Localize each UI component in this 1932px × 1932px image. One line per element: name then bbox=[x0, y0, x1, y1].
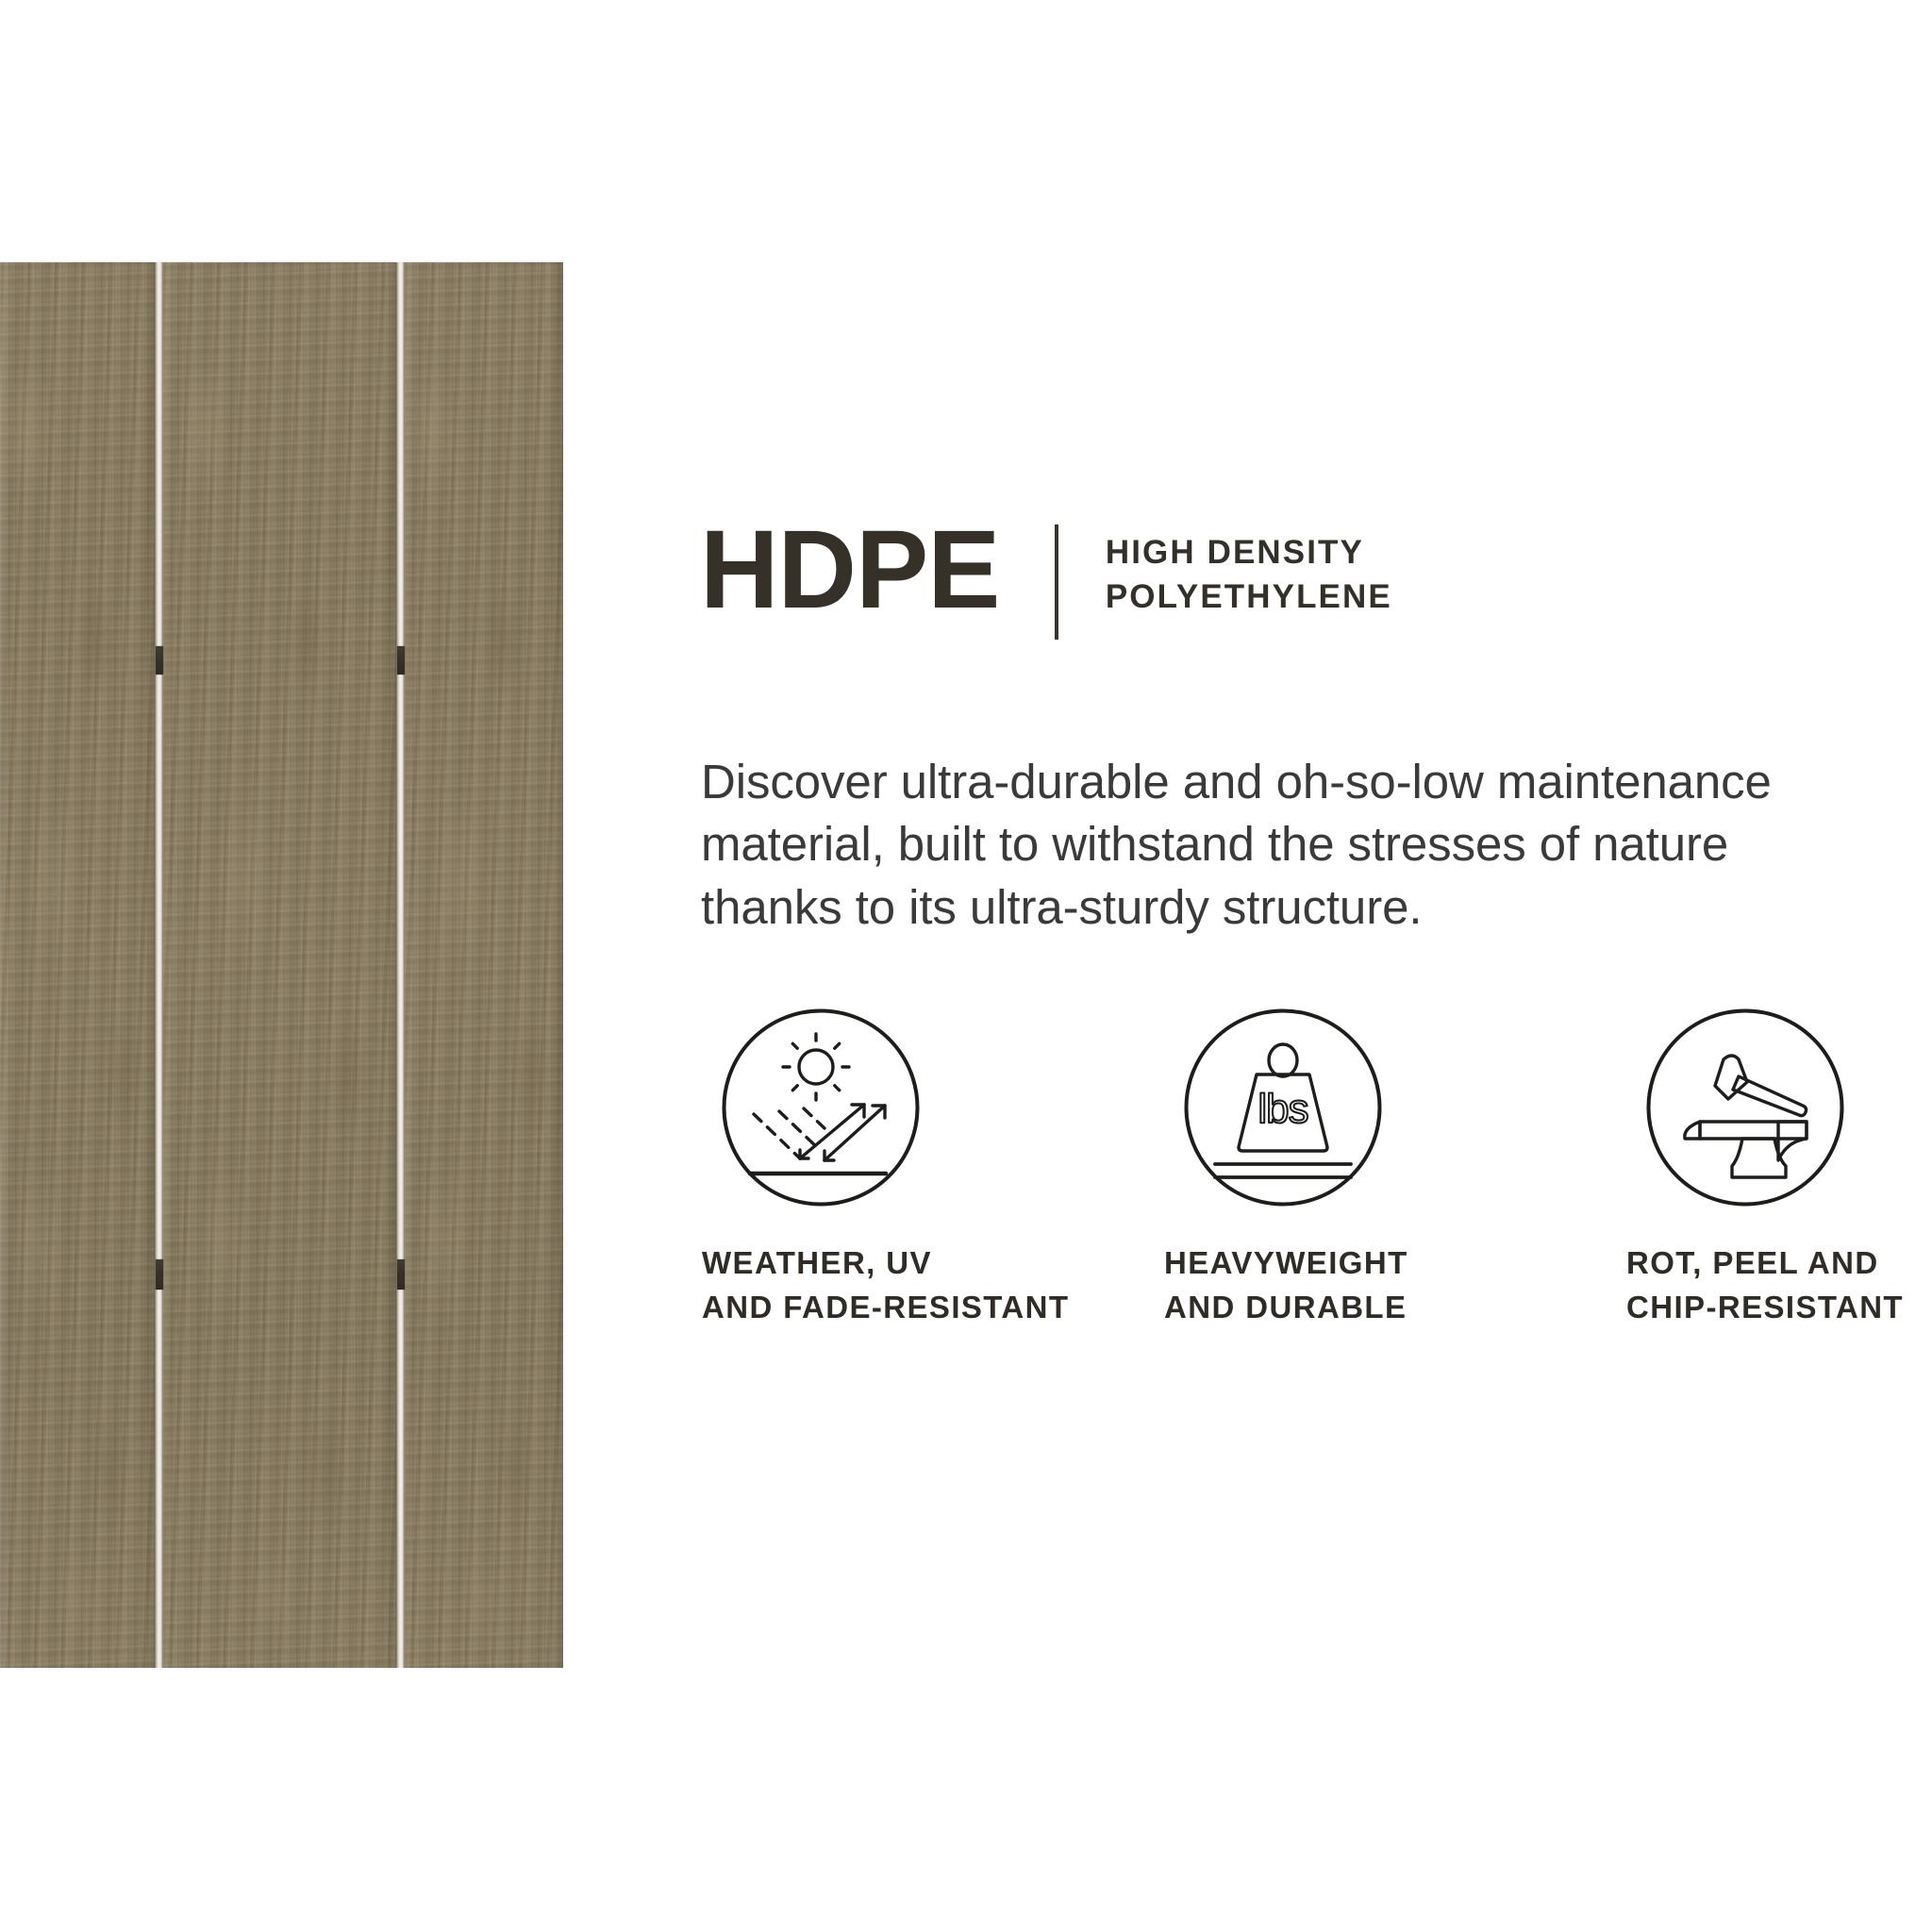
slat-board-1 bbox=[0, 262, 155, 1668]
subtitle-line-2: POLYETHYLENE bbox=[1106, 575, 1392, 619]
infographic-canvas: HDPE HIGH DENSITY POLYETHYLENE Discover … bbox=[0, 0, 1932, 1932]
slat-edge-shading-2 bbox=[162, 262, 396, 1668]
slat-edge-shading-1 bbox=[0, 262, 155, 1668]
slat-gap-1 bbox=[155, 262, 163, 1668]
slat-gap-2 bbox=[396, 262, 405, 1668]
svg-text:lbs: lbs bbox=[1257, 1086, 1307, 1132]
feature-label-line-1: WEATHER, UV bbox=[702, 1241, 1069, 1286]
slat-board-2 bbox=[162, 262, 396, 1668]
title-divider bbox=[1055, 525, 1058, 640]
hammer-anvil-icon bbox=[1645, 1008, 1845, 1207]
slat-board-3 bbox=[404, 262, 563, 1668]
title-subtitle: HIGH DENSITY POLYETHYLENE bbox=[1106, 530, 1392, 620]
feature-item-weather-uv: WEATHER, UV AND FADE-RESISTANT bbox=[700, 1008, 1162, 1330]
page-title: HDPE bbox=[700, 517, 999, 624]
feature-label-line-1: HEAVYWEIGHT bbox=[1164, 1241, 1408, 1286]
slat-connector-clip-2 bbox=[397, 646, 405, 675]
feature-label-heavyweight: HEAVYWEIGHT AND DURABLE bbox=[1164, 1241, 1408, 1330]
body-line-2: material, built to withstand the stresse… bbox=[701, 813, 1932, 875]
body-line-1: Discover ultra-durable and oh-so-low mai… bbox=[701, 751, 1932, 813]
feature-label-line-2: AND FADE-RESISTANT bbox=[702, 1286, 1069, 1330]
subtitle-line-1: HIGH DENSITY bbox=[1106, 530, 1392, 575]
slat-connector-clip-3 bbox=[156, 1259, 163, 1290]
body-paragraph: Discover ultra-durable and oh-so-low mai… bbox=[701, 751, 1932, 939]
slat-connector-clip-4 bbox=[397, 1259, 405, 1290]
hdpe-slat-panel-photo bbox=[0, 262, 563, 1668]
feature-label-line-2: AND DURABLE bbox=[1164, 1286, 1408, 1330]
content-column: HDPE HIGH DENSITY POLYETHYLENE Discover … bbox=[700, 0, 1932, 1932]
body-line-3: thanks to its ultra-sturdy structure. bbox=[701, 876, 1932, 939]
feature-label-weather-uv: WEATHER, UV AND FADE-RESISTANT bbox=[702, 1241, 1069, 1330]
sun-uv-reflect-icon bbox=[721, 1008, 921, 1207]
feature-label-rot-peel-chip: ROT, PEEL AND CHIP-RESISTANT bbox=[1626, 1241, 1904, 1330]
feature-label-line-1: ROT, PEEL AND bbox=[1626, 1241, 1904, 1286]
feature-label-line-2: CHIP-RESISTANT bbox=[1626, 1286, 1904, 1330]
feature-item-rot-peel-chip: ROT, PEEL AND CHIP-RESISTANT bbox=[1624, 1008, 1932, 1330]
title-block: HDPE HIGH DENSITY POLYETHYLENE bbox=[700, 517, 1392, 640]
slat-edge-shading-3 bbox=[404, 262, 563, 1668]
weight-lbs-icon: lbs bbox=[1183, 1008, 1383, 1207]
feature-row: WEATHER, UV AND FADE-RESISTANT bbox=[700, 1008, 1932, 1330]
feature-item-heavyweight: lbs HEAVYWEIGHT AND DURABLE bbox=[1162, 1008, 1624, 1330]
slat-connector-clip-1 bbox=[156, 646, 163, 675]
